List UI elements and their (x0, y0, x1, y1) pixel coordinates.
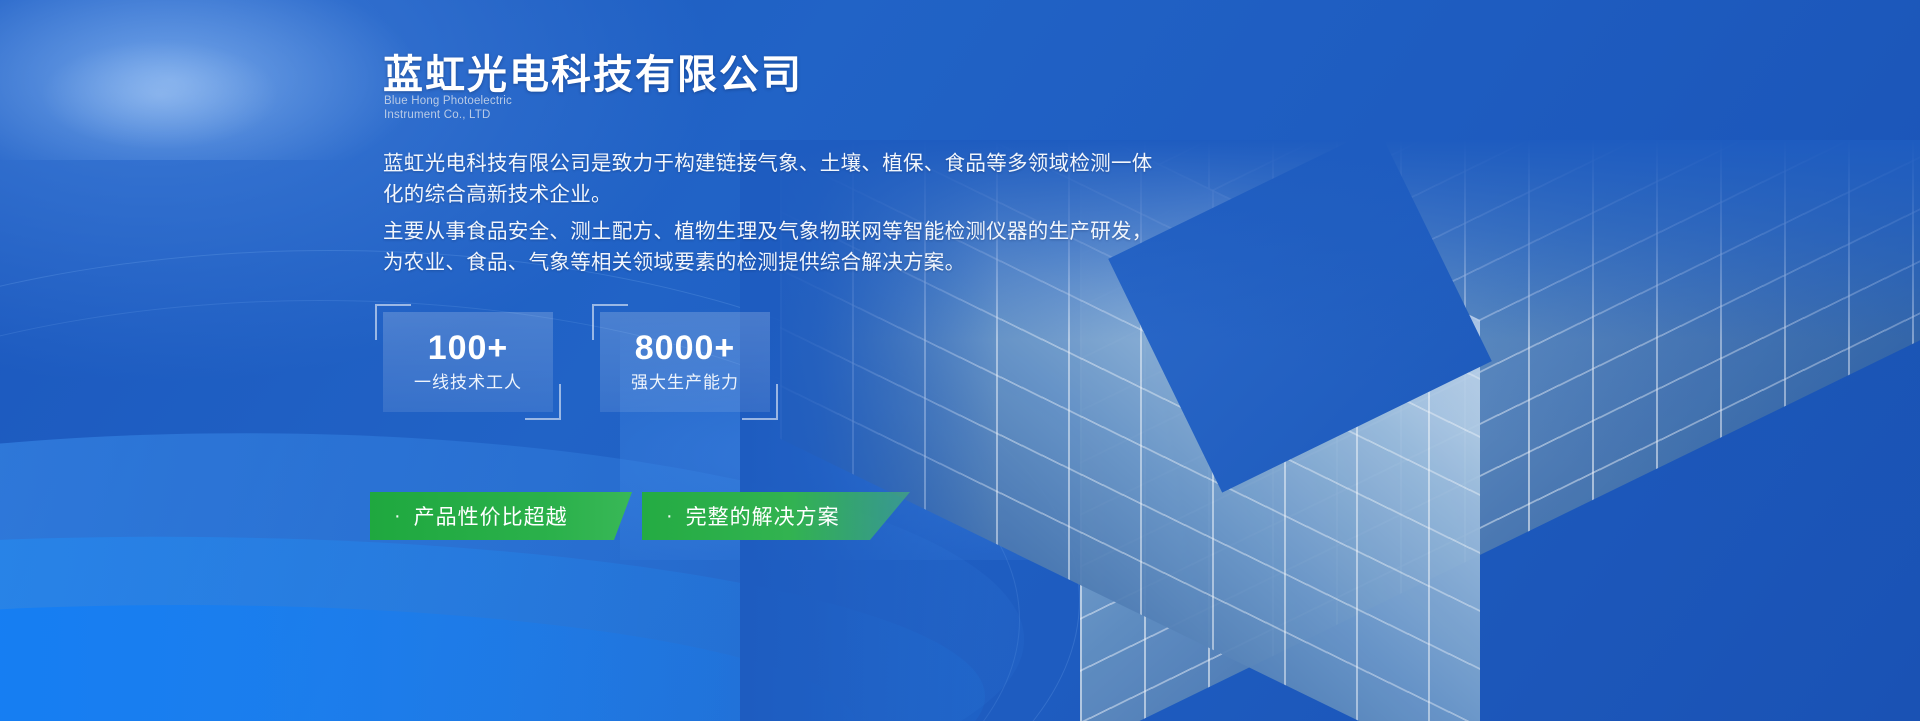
company-description-paragraph-2: 主要从事食品安全、测土配方、植物生理及气象物联网等智能检测仪器的生产研发， 为农… (383, 216, 1193, 278)
company-description-paragraph-1: 蓝虹光电科技有限公司是致力于构建链接气象、土壤、植保、食品等多领域检测一体 化的… (383, 148, 1193, 210)
feature-badge-group: · 产品性价比超越 · 完整的解决方案 (370, 492, 910, 540)
bullet-icon: · (394, 506, 402, 526)
feature-badge-solution[interactable]: · 完整的解决方案 (642, 492, 910, 540)
hero-banner: 蓝虹光电科技有限公司 Blue Hong Photoelectric Instr… (0, 0, 1920, 721)
stat-card-group: 100+ 一线技术工人 8000+ 强大生产能力 (383, 312, 770, 412)
company-subtitle-english: Blue Hong Photoelectric Instrument Co., … (384, 94, 512, 122)
stat-label: 一线技术工人 (414, 370, 522, 396)
stat-value: 100+ (428, 328, 509, 368)
bullet-icon: · (666, 506, 674, 526)
stat-card-capacity: 8000+ 强大生产能力 (600, 312, 770, 412)
feature-badge-label: 产品性价比超越 (414, 501, 568, 531)
company-title: 蓝虹光电科技有限公司 (383, 42, 803, 100)
stat-card-technicians: 100+ 一线技术工人 (383, 312, 553, 412)
feature-badge-label: 完整的解决方案 (686, 501, 840, 531)
banner-content: 蓝虹光电科技有限公司 Blue Hong Photoelectric Instr… (0, 0, 1920, 721)
stat-value: 8000+ (635, 328, 736, 368)
feature-badge-value[interactable]: · 产品性价比超越 (370, 492, 632, 540)
stat-label: 强大生产能力 (631, 370, 739, 396)
